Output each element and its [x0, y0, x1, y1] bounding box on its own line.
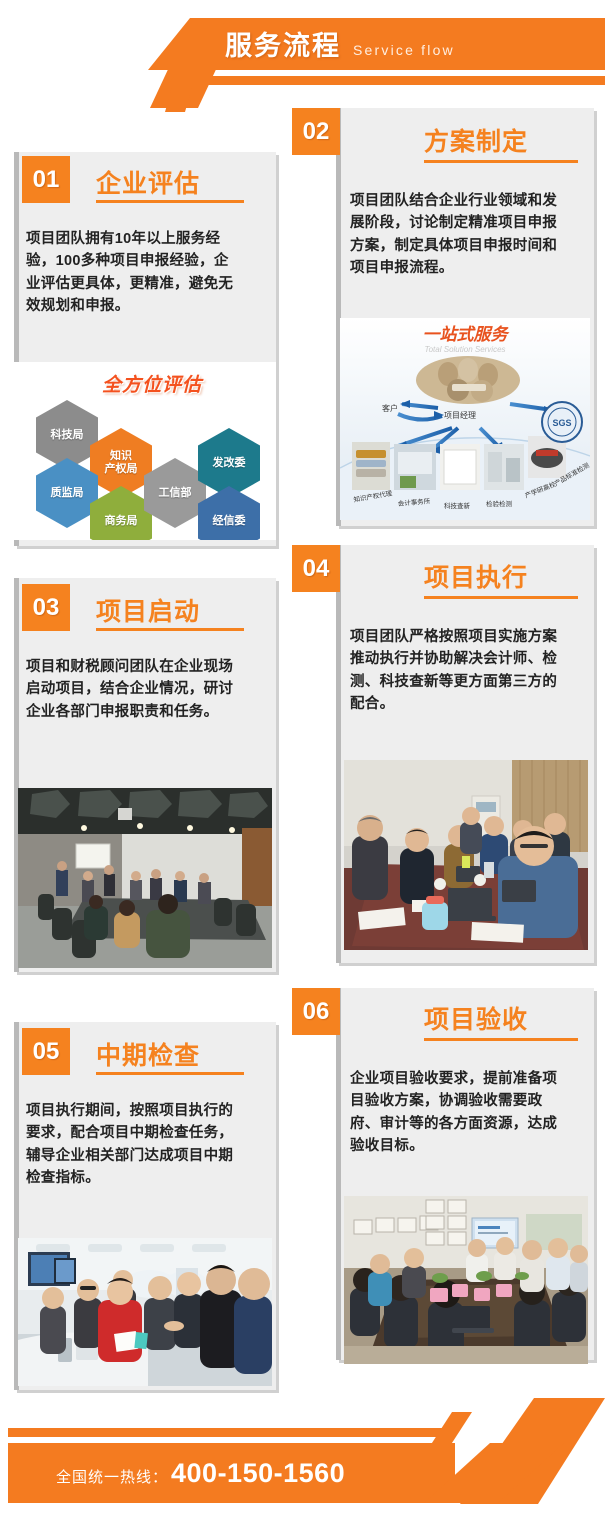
- hexagon-shangwu-ju: 商务局: [90, 486, 152, 540]
- title-underline-04: [424, 596, 578, 599]
- hexagon-zhijian-ju: 质监局: [36, 458, 98, 528]
- svg-text:一站式服务: 一站式服务: [423, 325, 511, 344]
- step-body-05: 项目执行期间，按照项目执行的要求，配合项目中期检查任务，辅导企业相关部门达成项目…: [26, 1100, 242, 1190]
- hexagon-diagram-caption: 全方位评估: [102, 370, 202, 397]
- header-title-group: 服务流程 Service flow: [225, 24, 455, 63]
- step-number-badge-04: 04: [292, 545, 340, 592]
- title-underline-03: [96, 628, 244, 631]
- footer-stripe-diagonal-accent: [430, 1412, 510, 1446]
- step-title-01: 企业评估: [96, 164, 200, 200]
- title-underline-06: [424, 1038, 578, 1041]
- title-underline-05: [96, 1072, 244, 1075]
- step-number-badge-01: 01: [22, 156, 70, 203]
- step-title-06: 项目验收: [424, 1000, 528, 1036]
- step-title-02: 方案制定: [424, 122, 528, 158]
- page-subtitle: Service flow: [353, 42, 455, 58]
- acceptance-meeting-photo-svg: [344, 1196, 588, 1364]
- hotline-number[interactable]: 400-150-1560: [171, 1458, 345, 1489]
- page-header: 服务流程 Service flow: [0, 0, 605, 108]
- footer-orange-stripe: [8, 1428, 452, 1437]
- footer-hotline-group: 全国统一热线： 400-150-1560: [56, 1458, 345, 1489]
- one-stop-service-svg: 一站式服务 Total Solution Services 客户 项目经理: [340, 318, 590, 520]
- step-number-badge-02: 02: [292, 108, 340, 155]
- step-body-04: 项目团队严格按照项目实施方案推动执行并协助解决会计师、检测、科技查新等更方面第三…: [350, 626, 564, 716]
- step-photo-03: [18, 788, 272, 968]
- showroom-inspection-photo-svg: [18, 1238, 272, 1386]
- step-number-badge-06: 06: [292, 988, 340, 1035]
- service-flow-page: 服务流程 Service flow 01 企业评估 项目团队拥有10年以上服务经…: [0, 0, 605, 1538]
- step-title-03: 项目启动: [96, 592, 200, 628]
- title-underline-02: [424, 160, 578, 163]
- svg-text:SGS: SGS: [552, 418, 571, 428]
- step-title-04: 项目执行: [424, 558, 528, 594]
- step-body-03: 项目和财税顾问团队在企业现场启动项目，结合企业情况，研讨企业各部门申报职责和任务…: [26, 656, 242, 723]
- step-body-02: 项目团队结合企业行业领域和发展阶段，讨论制定精准项目申报方案，制定具体项目申报时…: [350, 190, 564, 280]
- step-number-badge-05: 05: [22, 1028, 70, 1075]
- svg-text:客户: 客户: [382, 403, 398, 413]
- header-orange-stripe: [167, 76, 605, 85]
- hexagon-diagram-01: 全方位评估 科技局 知识产权局 质监局 商务局 工信部 发改委 经信委: [14, 362, 276, 540]
- page-title: 服务流程: [225, 24, 341, 63]
- team-working-photo-svg: [344, 760, 588, 950]
- title-underline-01: [96, 200, 244, 203]
- hotline-label: 全国统一热线：: [56, 1466, 168, 1487]
- meeting-room-photo-svg: [18, 788, 272, 968]
- svg-text:项目经理: 项目经理: [444, 410, 476, 420]
- step-photo-04: [344, 760, 588, 950]
- svg-text:Total Solution Services: Total Solution Services: [424, 345, 505, 354]
- one-stop-service-diagram-02: 一站式服务 Total Solution Services 客户 项目经理: [340, 318, 590, 520]
- step-body-01: 项目团队拥有10年以上服务经验，100多种项目申报经验，企业评估更具体，更精准，…: [26, 228, 242, 318]
- step-photo-05: [18, 1238, 272, 1386]
- hexagon-jingxin-wei: 经信委: [198, 486, 260, 540]
- hexagon-gongxin-bu: 工信部: [144, 458, 206, 528]
- svg-text:科技查新: 科技查新: [444, 501, 471, 510]
- step-title-05: 中期检查: [96, 1036, 200, 1072]
- step-body-06: 企业项目验收要求，提前准备项目验收方案，协调验收需要政府、审计等的各方面资源，达…: [350, 1068, 564, 1158]
- step-photo-06: [344, 1196, 588, 1364]
- svg-text:检验检测: 检验检测: [486, 499, 513, 508]
- step-number-badge-03: 03: [22, 584, 70, 631]
